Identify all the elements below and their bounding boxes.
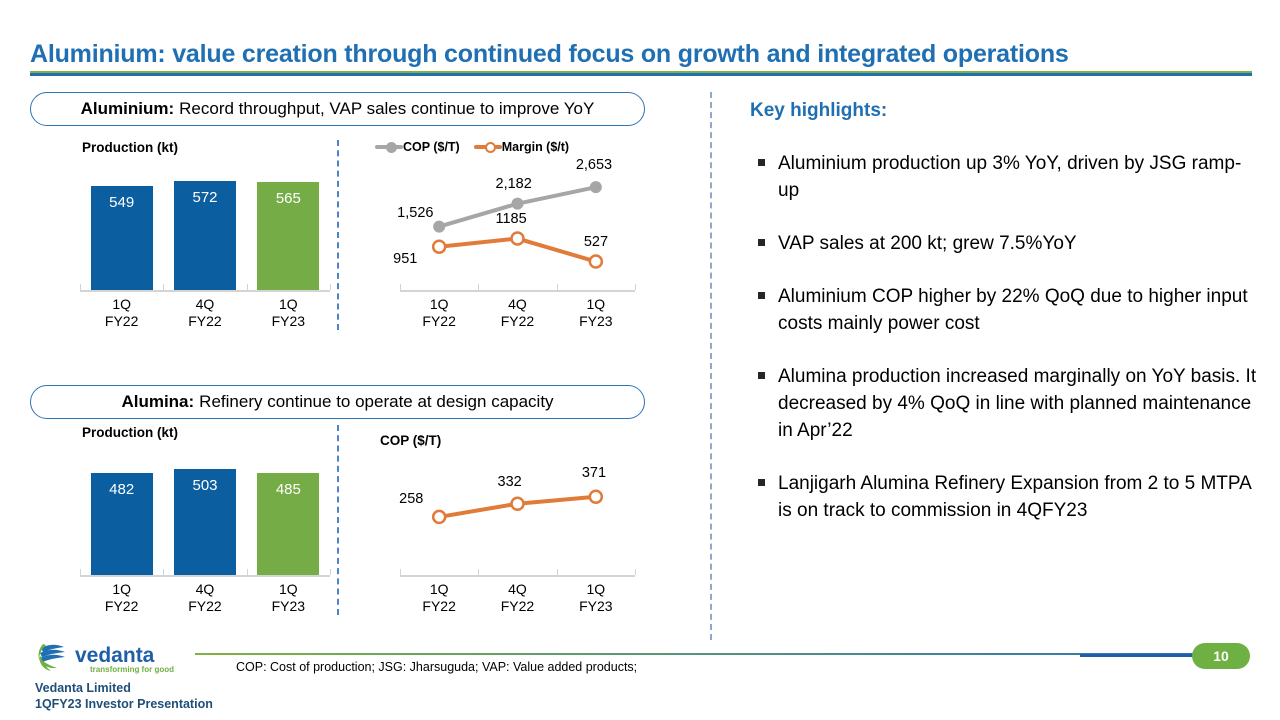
bar-value-label: 503 [174,477,236,494]
vertical-divider-main [710,92,712,640]
bar-value-label: 572 [174,189,236,206]
aluminium-callout-bold: Aluminium: [81,99,175,119]
bar-value-label: 485 [257,481,319,498]
category-label: 1QFY22 [80,296,163,330]
aluminium-callout: Aluminium: Record throughput, VAP sales … [30,92,645,126]
data-point-label: 1185 [496,211,527,227]
key-highlight-text: VAP sales at 200 kt; grew 7.5%YoY [778,230,1077,257]
axis-tick [330,569,331,575]
bullet-icon [758,479,765,486]
key-highlight-item: Lanjigarh Alumina Refinery Expansion fro… [758,470,1258,524]
axis-baseline [80,290,330,292]
company-name: Vedanta Limited [35,680,213,696]
vedanta-logo: vedanta transforming for good [35,638,195,678]
category-label: 4QFY22 [478,296,556,330]
data-point-label: 2,653 [576,157,612,173]
key-highlight-item: Alumina production increased marginally … [758,363,1258,444]
axis-tick [478,569,479,575]
key-highlight-item: Aluminium production up 3% YoY, driven b… [758,150,1258,204]
axis-tick [400,569,401,575]
title-rule-blue [30,73,1252,76]
bar-value-label: 565 [257,190,319,207]
category-label: 4QFY22 [163,581,246,615]
company-footer: Vedanta Limited 1QFY23 Investor Presenta… [35,680,213,712]
key-highlight-text: Aluminium COP higher by 22% QoQ due to h… [778,283,1258,337]
bar: 572 [174,181,236,290]
svg-text:vedanta: vedanta [75,644,155,667]
category-label: 1QFY23 [557,581,635,615]
bar: 485 [257,473,319,575]
bar: 549 [91,186,153,290]
axis-tick [635,284,636,290]
axis-baseline [400,575,635,577]
chart-alumina-cop: COP ($/T)2583323711QFY224QFY221QFY23 [355,425,645,615]
key-highlight-text: Aluminium production up 3% YoY, driven b… [778,150,1258,204]
axis-tick [80,284,81,290]
vertical-divider-alumina [337,425,339,615]
axis-tick [478,284,479,290]
key-highlight-text: Lanjigarh Alumina Refinery Expansion fro… [778,470,1258,524]
bar: 482 [91,473,153,575]
page-number-line [1080,654,1195,657]
bar: 565 [257,182,319,290]
footer-rule [195,653,1195,655]
aluminium-callout-text: Record throughput, VAP sales continue to… [179,99,594,119]
footnote: COP: Cost of production; JSG: Jharsuguda… [236,660,637,674]
chart-alumina-production: Production (kt)4825034851QFY224QFY221QFY… [40,425,330,615]
data-point-label: 258 [399,491,423,507]
axis-tick [247,569,248,575]
category-label: 4QFY22 [163,296,246,330]
category-label: 1QFY23 [247,296,330,330]
axis-tick [557,284,558,290]
bar-value-label: 549 [91,194,153,211]
data-point-label: 1,526 [397,205,433,221]
chart-title: Production (kt) [82,140,178,155]
data-point-label: 951 [393,251,417,267]
data-point-label: 527 [584,234,608,250]
page-number-badge: 10 [1192,643,1250,669]
bullet-icon [758,292,765,299]
alumina-callout-text: Refinery continue to operate at design c… [199,392,553,412]
axis-tick [247,284,248,290]
chart-title: Production (kt) [82,425,178,440]
key-highlight-item: Aluminium COP higher by 22% QoQ due to h… [758,283,1258,337]
axis-tick [80,569,81,575]
category-label: 4QFY22 [478,581,556,615]
presentation-name: 1QFY23 Investor Presentation [35,696,213,712]
key-highlights-list: Aluminium production up 3% YoY, driven b… [758,150,1258,550]
bullet-icon [758,159,765,166]
bullet-icon [758,372,765,379]
data-point-label: 2,182 [496,176,532,192]
axis-tick [163,569,164,575]
category-label: 1QFY22 [80,581,163,615]
key-highlights-heading: Key highlights: [750,100,887,122]
slide: Aluminium: value creation through contin… [0,0,1280,720]
bar: 503 [174,469,236,575]
axis-tick [330,284,331,290]
chart-aluminium-cop-margin: COP ($/T)Margin ($/t)1,5262,1822,6539511… [355,140,645,330]
chart-aluminium-production: Production (kt)5495725651QFY224QFY221QFY… [40,140,330,330]
category-label: 1QFY23 [247,581,330,615]
axis-baseline [400,290,635,292]
data-point-label: 371 [582,465,606,481]
category-label: 1QFY23 [557,296,635,330]
alumina-callout: Alumina: Refinery continue to operate at… [30,385,645,419]
axis-tick [400,284,401,290]
bar-value-label: 482 [91,481,153,498]
key-highlight-text: Alumina production increased marginally … [778,363,1258,444]
page-title: Aluminium: value creation through contin… [30,40,1230,69]
bullet-icon [758,239,765,246]
vertical-divider-aluminium [337,140,339,330]
axis-tick [163,284,164,290]
key-highlight-item: VAP sales at 200 kt; grew 7.5%YoY [758,230,1258,257]
axis-tick [635,569,636,575]
data-point-label: 332 [498,474,522,490]
category-label: 1QFY22 [400,581,478,615]
axis-tick [557,569,558,575]
axis-baseline [80,575,330,577]
svg-text:transforming for good: transforming for good [90,665,174,674]
alumina-callout-bold: Alumina: [121,392,194,412]
category-label: 1QFY22 [400,296,478,330]
